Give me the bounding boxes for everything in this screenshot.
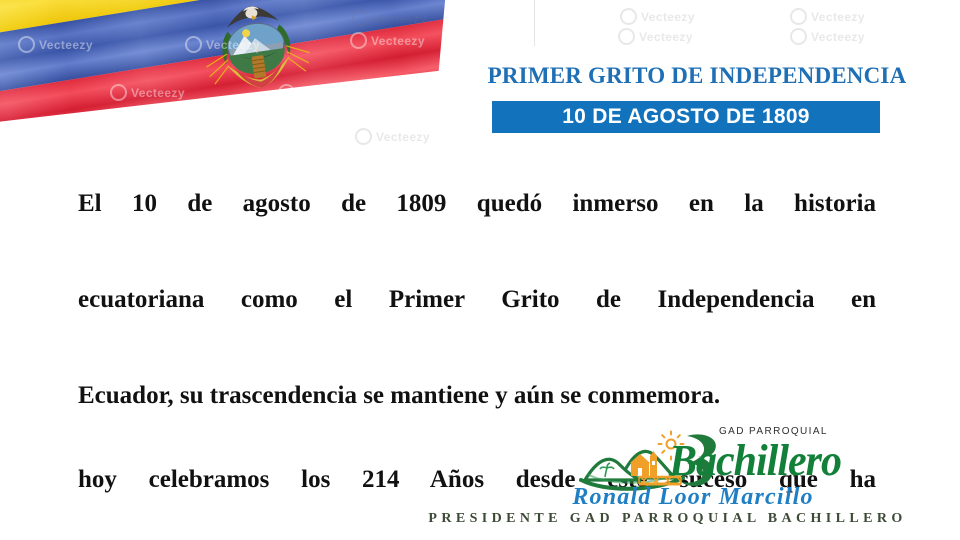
ecuador-flag-banner: Vecteezy Vecteezy Vecteezy Vecteezy Vect… — [0, 0, 960, 185]
signature-name: Ronald Loor Marcillo — [528, 484, 858, 511]
flag-image-seam — [534, 0, 535, 46]
page-title: PRIMER GRITO DE INDEPENDENCIA — [462, 63, 932, 89]
escudo-nacional-ecuador-icon — [186, 0, 326, 98]
date-banner-label: 10 DE AGOSTO DE 1809 — [562, 105, 810, 129]
gad-parroquial-bachillero-logo: GAD PARROQUIAL Bachillero — [575, 424, 875, 490]
paragraph-1-line-3: Ecuador, su trascendencia se mantiene y … — [78, 372, 876, 420]
signature-role: PRESIDENTE GAD PARROQUIAL BACHILLERO — [395, 511, 940, 527]
logo-wordmark: Bachillero — [669, 436, 841, 487]
date-banner: 10 DE AGOSTO DE 1809 — [492, 101, 880, 133]
flag-right-taper — [420, 0, 960, 185]
slide-canvas: Vecteezy Vecteezy Vecteezy Vecteezy Vect… — [0, 0, 960, 540]
paragraph-1: El 10 de agosto de 1809 quedó inmerso en… — [78, 180, 876, 420]
paragraph-1-line-2: ecuatoriana como el Primer Grito de Inde… — [78, 276, 876, 372]
paragraph-1-line-1: El 10 de agosto de 1809 quedó inmerso en… — [78, 180, 876, 276]
